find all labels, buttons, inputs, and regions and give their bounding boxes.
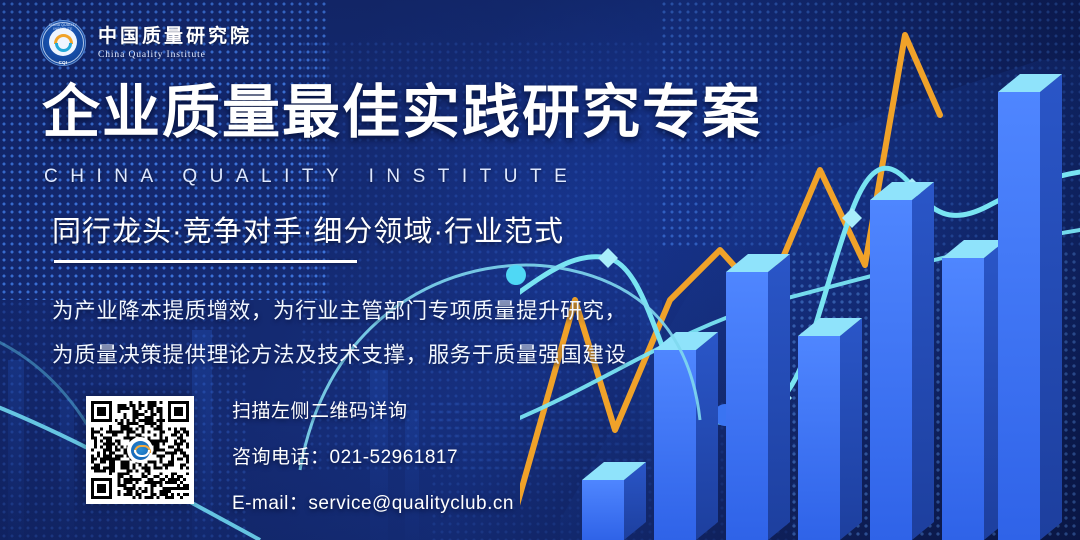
divider-rule: [54, 260, 357, 263]
promo-banner: CHINA QUALITY INSTITUTE CQI 中国质量研究院 Chin…: [0, 0, 1080, 540]
qr-code-cells: [91, 401, 189, 499]
subtitle-english: CHINA QUALITY INSTITUTE: [44, 166, 579, 188]
logo-name-en: China Quality Institute: [98, 50, 252, 60]
qr-hint-text: 扫描左侧二维码详询: [232, 396, 514, 423]
cqi-emblem-icon: CHINA QUALITY INSTITUTE CQI: [40, 20, 86, 66]
phone-text: 咨询电话：021-52961817: [232, 442, 514, 469]
page-title: 企业质量最佳实践研究专案: [42, 84, 762, 142]
body-text-line-1: 为产业降本提质增效，为行业主管部门专项质量提升研究，: [52, 294, 627, 325]
emblem-abbr: CQI: [40, 60, 86, 65]
logo-name-cn: 中国质量研究院: [98, 26, 252, 48]
emblem-swirl-icon: [54, 33, 73, 52]
emblem-inner: [49, 28, 77, 56]
logo-text: 中国质量研究院 China Quality Institute: [98, 26, 252, 60]
email-text[interactable]: E-mail：service@qualityclub.cn: [232, 488, 514, 515]
contact-block: 扫描左侧二维码详询 咨询电话：021-52961817 E-mail：servi…: [232, 396, 514, 515]
logo: CHINA QUALITY INSTITUTE CQI 中国质量研究院 Chin…: [40, 20, 252, 66]
body-text-line-2: 为质量决策提供理论方法及技术支撑，服务于质量强国建设: [52, 338, 627, 369]
globe-arc-node: [506, 265, 526, 285]
qr-center-logo-icon: [127, 437, 153, 463]
qr-code[interactable]: [86, 396, 194, 504]
subtitle-chinese: 同行龙头·竞争对手·细分领域·行业范式: [52, 208, 564, 250]
